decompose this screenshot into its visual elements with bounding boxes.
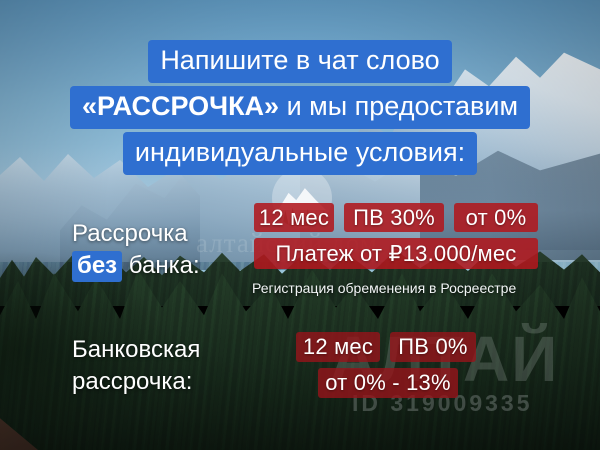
headline-row-3: индивидуальные условия: [0,132,600,175]
offer-2-badge-term: 12 мес [296,332,380,362]
offer-1-label-line-2-rest: банка: [122,252,200,279]
promo-banner: алтайский дом АЛТАЙ ID 319009335 Напишит… [0,0,600,450]
offer-1-label-highlight: без [72,251,122,282]
offer-1-label-line-1: Рассрочка [72,218,200,250]
offer-1-badge-payment: Платеж от ₽13.000/мес [254,238,538,269]
offer-2-label-line-2: рассрочка: [72,366,200,398]
offer-2-label-line-1: Банковская [72,334,200,366]
offer-2-badge-downpayment: ПВ 0% [390,332,476,362]
headline-keyword: «РАССРОЧКА» [82,91,279,121]
offer-1-label-line-2: без банка: [72,250,200,282]
headline-line-1: Напишите в чат слово [148,40,451,83]
headline-line-3: индивидуальные условия: [123,132,477,175]
headline-line-2: «РАССРОЧКА» и мы предоставим [70,86,530,129]
headline-row-1: Напишите в чат слово [0,40,600,83]
offer-1-label: Рассрочка без банка: [72,218,200,283]
headline-row-2: «РАССРОЧКА» и мы предоставим [0,86,600,129]
offer-2-label: Банковская рассрочка: [72,334,200,399]
offer-2-badge-rate: от 0% - 13% [318,368,458,398]
headline-line-2-rest: и мы предоставим [279,91,518,121]
offer-1-badge-downpayment: ПВ 30% [344,203,444,232]
offer-1-badge-rate: от 0% [454,203,538,232]
headline-block: Напишите в чат слово «РАССРОЧКА» и мы пр… [0,40,600,178]
offer-1-badge-term: 12 мес [254,203,334,232]
offer-1-note: Регистрация обременения в Росреестре [252,280,516,296]
